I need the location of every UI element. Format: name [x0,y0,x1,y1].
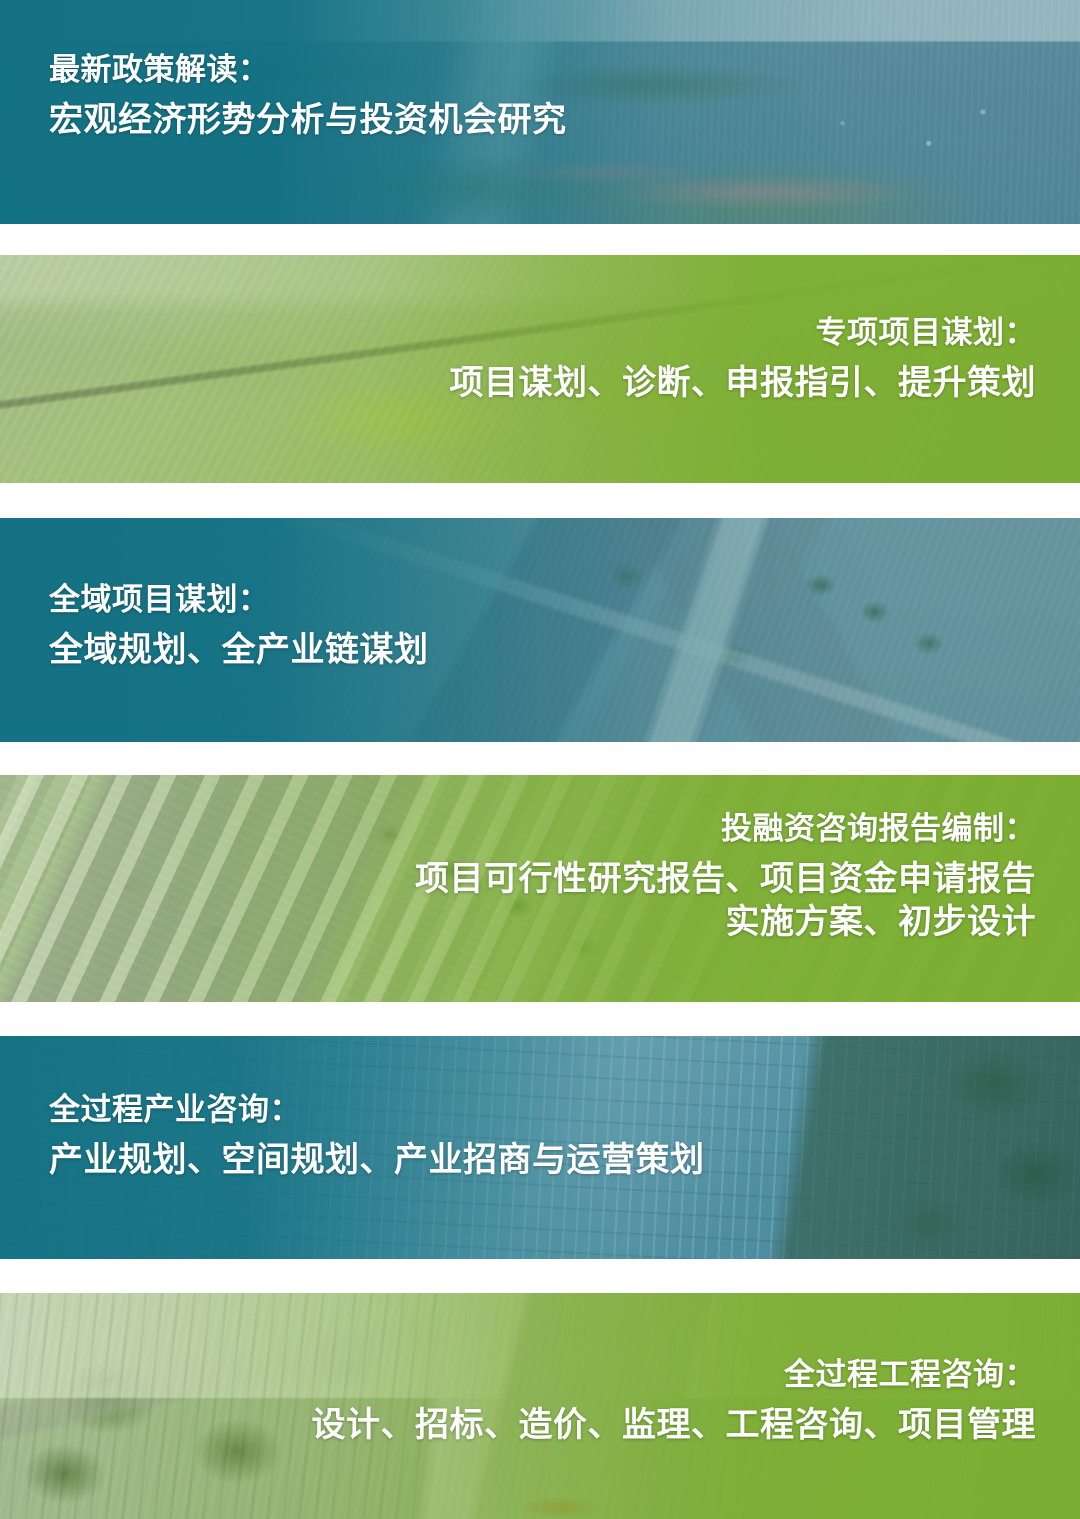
band-text-whole-process-industry-consulting: 全过程产业咨询： 产业规划、空间规划、产业招商与运营策划 [49,1090,705,1182]
band-subline-2: 实施方案、初步设计 [415,901,1036,945]
band-whole-area-project-planning[interactable]: 全域项目谋划： 全域规划、全产业链谋划 [0,518,1080,742]
band-heading: 专项项目谋划： [450,313,1037,353]
band-heading: 全过程工程咨询： [312,1355,1037,1395]
band-heading: 最新政策解读： [49,50,567,90]
band-text-policy-interpretation: 最新政策解读： 宏观经济形势分析与投资机会研究 [49,50,567,142]
band-subline: 宏观经济形势分析与投资机会研究 [49,99,567,143]
band-subline: 产业规划、空间规划、产业招商与运营策划 [49,1139,705,1183]
band-policy-interpretation[interactable]: 最新政策解读： 宏观经济形势分析与投资机会研究 [0,0,1080,224]
band-subline: 全域规划、全产业链谋划 [49,629,429,673]
band-subline: 项目可行性研究报告、项目资金申请报告 [415,858,1036,902]
band-subline: 项目谋划、诊断、申报指引、提升策划 [450,362,1037,406]
band-heading: 投融资咨询报告编制： [415,809,1036,849]
band-text-whole-area-project-planning: 全域项目谋划： 全域规划、全产业链谋划 [49,580,429,672]
band-heading: 全过程产业咨询： [49,1090,705,1130]
band-text-investment-financing-report: 投融资咨询报告编制： 项目可行性研究报告、项目资金申请报告 实施方案、初步设计 [415,809,1036,945]
band-whole-process-engineering-consulting[interactable]: 全过程工程咨询： 设计、招标、造价、监理、工程咨询、项目管理 [0,1293,1080,1519]
band-text-special-project-planning: 专项项目谋划： 项目谋划、诊断、申报指引、提升策划 [450,313,1037,405]
band-subline: 设计、招标、造价、监理、工程咨询、项目管理 [312,1404,1037,1448]
band-investment-financing-report[interactable]: 投融资咨询报告编制： 项目可行性研究报告、项目资金申请报告 实施方案、初步设计 [0,775,1080,1002]
band-heading: 全域项目谋划： [49,580,429,620]
band-whole-process-industry-consulting[interactable]: 全过程产业咨询： 产业规划、空间规划、产业招商与运营策划 [0,1036,1080,1259]
band-special-project-planning[interactable]: 专项项目谋划： 项目谋划、诊断、申报指引、提升策划 [0,255,1080,483]
band-text-whole-process-engineering-consulting: 全过程工程咨询： 设计、招标、造价、监理、工程咨询、项目管理 [312,1355,1037,1447]
service-banner-poster: 最新政策解读： 宏观经济形势分析与投资机会研究 专项项目谋划： 项目谋划、诊断、… [0,0,1080,1519]
